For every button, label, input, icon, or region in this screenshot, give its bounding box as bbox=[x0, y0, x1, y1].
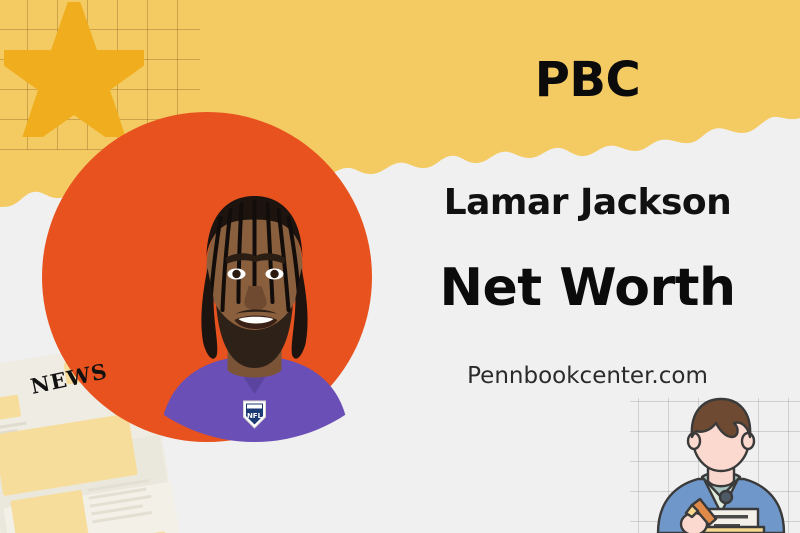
reporter-character-icon bbox=[646, 393, 796, 533]
svg-text:NFL: NFL bbox=[247, 412, 263, 420]
athlete-portrait: NFL bbox=[42, 118, 372, 442]
topic-title: Net Worth bbox=[400, 258, 775, 318]
thumbnail-canvas: NEWS bbox=[0, 0, 800, 533]
website-url-text: Pennbookcenter.com bbox=[400, 363, 775, 389]
subject-name: Lamar Jackson bbox=[400, 182, 775, 223]
brand-logo-text: PBC bbox=[400, 52, 775, 108]
